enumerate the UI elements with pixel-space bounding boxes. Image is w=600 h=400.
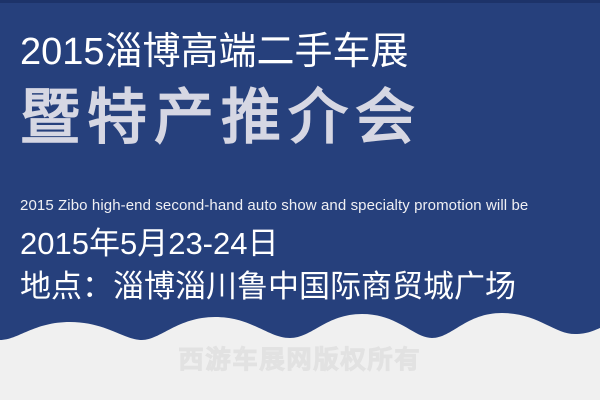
event-venue: 地点：淄博淄川鲁中国际商贸城广场 — [20, 271, 516, 302]
event-date: 2015年5月23-24日 — [20, 228, 279, 259]
poster-banner: 2015淄博高端二手车展 暨特产推介会 2015 Zibo high-end s… — [0, 0, 600, 400]
headline-secondary: 暨特产推介会 — [20, 88, 422, 148]
cloud-wave-divider — [0, 300, 600, 400]
headline-primary: 2015淄博高端二手车展 — [20, 33, 409, 71]
subtitle-english: 2015 Zibo high-end second-hand auto show… — [20, 198, 528, 213]
top-edge-rule — [0, 0, 600, 3]
